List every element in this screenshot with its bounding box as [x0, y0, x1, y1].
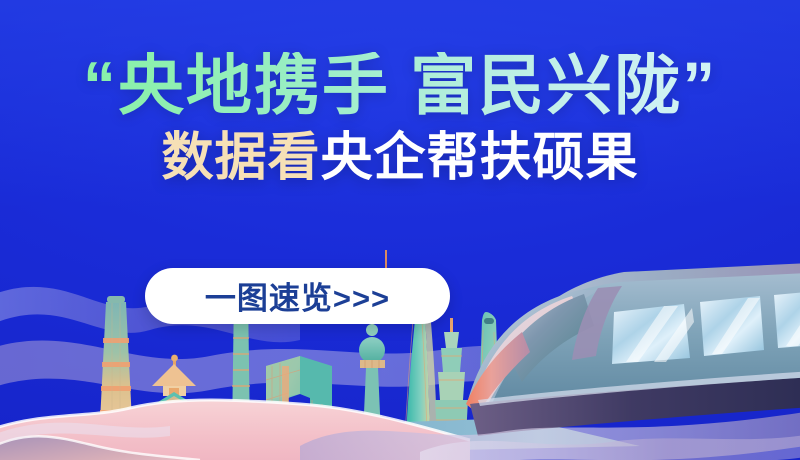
view-infographic-button[interactable]: 一图速览>>>: [145, 268, 450, 324]
headline-secondary-highlight: 数据看: [161, 129, 320, 187]
headline-block: “央地携手 富民兴陇” 数据看央企帮扶硕果: [0, 52, 800, 184]
promo-banner: “央地携手 富民兴陇” 数据看央企帮扶硕果 一图速览>>>: [0, 0, 800, 460]
headline-secondary-rest: 央企帮扶硕果: [321, 129, 639, 187]
high-speed-train: [466, 262, 800, 436]
landmark-jinmao-tower: [435, 318, 468, 436]
headline-secondary: 数据看央企帮扶硕果: [0, 132, 800, 184]
headline-primary: “央地携手 富民兴陇”: [0, 52, 800, 118]
view-infographic-button-label: 一图速览>>>: [205, 273, 390, 318]
